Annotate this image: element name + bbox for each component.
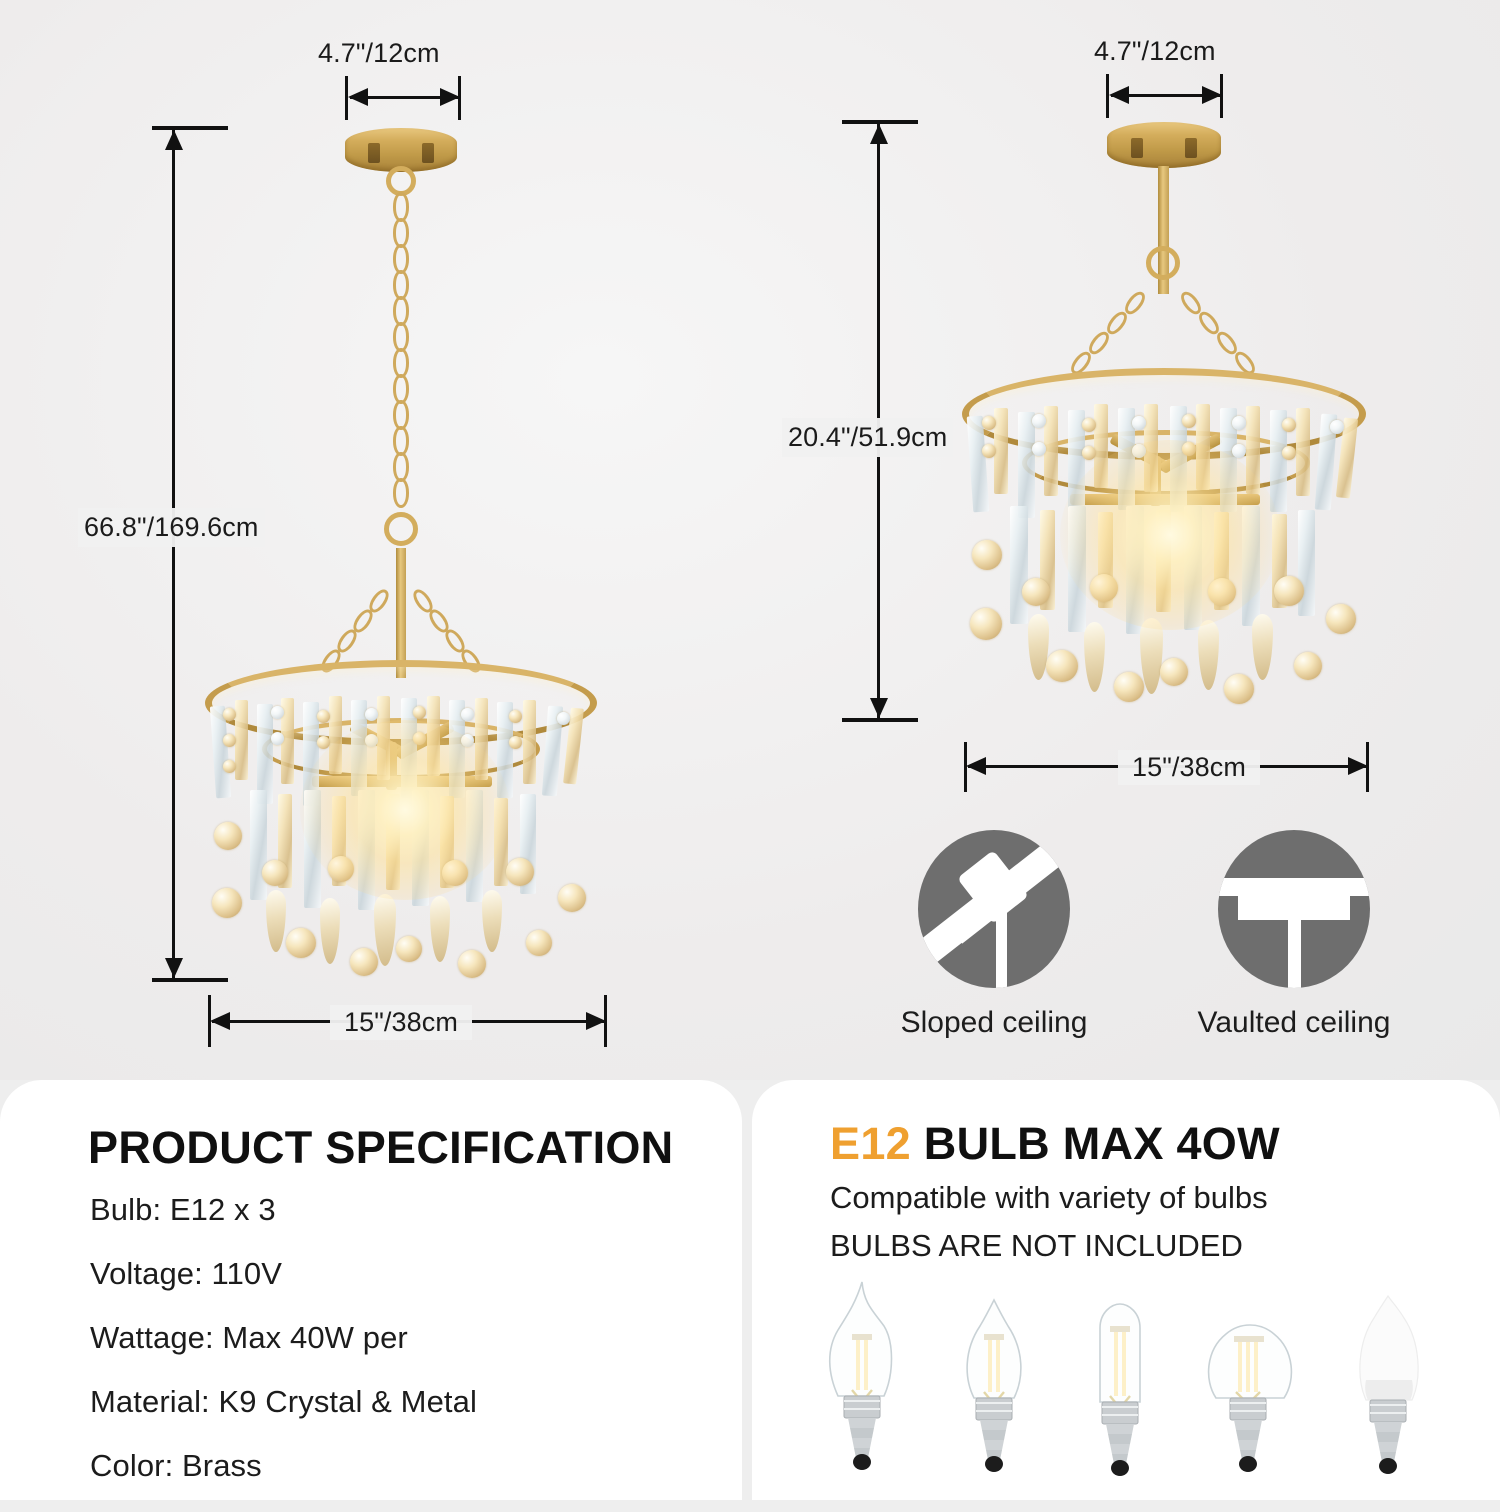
crystal-bead [317,736,330,749]
crystal-bead [365,708,378,721]
crystal-ball [1208,578,1236,606]
crystal-prism [967,416,990,513]
canopy-slot-right [1185,138,1197,158]
crystal-bead [1232,444,1246,458]
crystal-ball [1160,658,1188,686]
spec-line-material: Material: K9 Crystal & Metal [90,1384,477,1420]
crystal-bead [461,734,474,747]
crystal-ball [1326,604,1356,634]
crystal-bead [982,416,996,430]
crystal-ball [458,950,486,978]
chain-link [393,478,409,508]
crystal-bead [1032,414,1046,428]
crystal-bead [461,708,474,721]
crystal-bead [1032,442,1046,456]
crystal-bead [1132,416,1146,430]
crystal-bead [1182,442,1196,456]
sloped-ceiling-label: Sloped ceiling [864,1006,1124,1040]
crystal-prism [994,408,1008,494]
crystal-prism [427,696,440,776]
right-figure-panel: 4.7"/12cm 20.4"/51.9cm 15"/38cm [750,0,1500,1080]
bulb-title-highlight: E12 [830,1118,911,1169]
crystal-ball [1046,650,1078,682]
crystal-bead [271,706,284,719]
product-spec-infographic: 4.7"/12cm 66.8"/169.6cm 15"/38cm [0,0,1500,1500]
canopy-slot-left [368,143,380,163]
crystal-prism [329,696,342,774]
tubular-bulb-svg [1070,1298,1170,1490]
crystal-bead [1182,414,1196,428]
spec-line-voltage: Voltage: 110V [90,1256,477,1292]
crystal-bead [223,760,236,773]
hanger-loop [1146,246,1180,280]
ceiling-canopy [1107,122,1221,168]
canopy-slot-right [422,143,434,163]
crystal-ball [442,860,468,886]
spec-list: Bulb: E12 x 3 Voltage: 110V Wattage: Max… [90,1192,477,1512]
crystal-bead [365,734,378,747]
crystal-ball [1274,576,1304,606]
crystal-prism [1296,408,1310,496]
bulb-subtitle-compatible: Compatible with variety of bulbs [830,1180,1268,1216]
crystal-bead [413,732,426,745]
crystal-ball [286,928,316,958]
crystal-bead [1282,446,1296,460]
crystal-prism [377,696,390,780]
right-chandelier [750,0,1500,820]
crystal-ball-fringe [968,516,1360,716]
ceiling-option-sloped: Sloped ceiling [864,830,1124,1040]
flame-tip-bulb-svg [804,1278,924,1490]
flame-tip-filament-bulb [804,1278,924,1490]
crystal-bead [557,712,570,725]
crystal-bead [271,732,284,745]
crystal-ball [506,858,534,886]
product-specification-card: PRODUCT SPECIFICATION Bulb: E12 x 3 Volt… [0,1080,742,1500]
crystal-ball [526,930,552,956]
center-rod [396,548,406,678]
lower-hanger-loop [384,512,418,546]
crystal-ball [972,540,1002,570]
bulb-compatibility-card: E12 BULB MAX 4OW Compatible with variety… [752,1080,1500,1500]
crystal-bead [509,736,522,749]
crystal-prism [1044,406,1058,496]
crystal-bead [1082,446,1096,460]
ceiling-options-row: Sloped ceiling Vaulted ceiling [750,830,1500,1060]
crystal-ball [212,888,242,918]
crystal-ball [396,936,422,962]
crystal-ball [328,856,354,882]
crystal-ball [1090,574,1118,602]
bulb-illustrations-row [792,1275,1492,1490]
left-chandelier [0,0,750,1080]
spec-card-title: PRODUCT SPECIFICATION [88,1122,673,1174]
spec-line-wattage: Wattage: Max 40W per [90,1320,477,1356]
crystal-bead [1330,420,1344,434]
crystal-bead [1132,444,1146,458]
sloped-ceiling-icon [918,830,1070,988]
crystal-prism [257,704,273,804]
crystal-prism [1196,404,1210,490]
crystal-prism [235,700,248,780]
crystal-bead [223,734,236,747]
crystal-bead [1282,418,1296,432]
crystal-bead [509,710,522,723]
crystal-ball [970,608,1002,640]
crystal-prism [1246,406,1260,494]
crystal-ball [1224,674,1254,704]
left-figure-panel: 4.7"/12cm 66.8"/169.6cm 15"/38cm [0,0,750,1080]
globe-bulb-svg [1192,1306,1308,1490]
crystal-ball [350,948,378,976]
bulb-subtitle-not-included: BULBS ARE NOT INCLUDED [830,1228,1243,1264]
vaulted-ceiling-icon [1218,830,1370,988]
crystal-ball [1294,652,1322,680]
globe-g45-filament-bulb [1192,1306,1308,1490]
crystal-ball [558,884,586,912]
crystal-bead [1232,416,1246,430]
frosted-bulb-svg [1332,1294,1448,1490]
dimension-diagram-area: 4.7"/12cm 66.8"/169.6cm 15"/38cm [0,0,1500,1080]
torpedo-candle-filament-bulb [940,1294,1050,1490]
crystal-ball [1022,578,1050,606]
vaulted-ceiling-label: Vaulted ceiling [1164,1006,1424,1040]
sloped-fixture-stem [996,902,1007,988]
bulb-card-title: E12 BULB MAX 4OW [830,1118,1280,1170]
crystal-prism [1018,412,1035,518]
spec-line-color: Color: Brass [90,1448,477,1484]
bottom-cards: PRODUCT SPECIFICATION Bulb: E12 x 3 Volt… [0,1080,1500,1500]
crystal-bead [223,708,236,721]
suspension-chain [391,192,411,522]
crystal-bead [413,706,426,719]
crystal-ball [1114,672,1144,702]
spec-line-bulb: Bulb: E12 x 3 [90,1192,477,1228]
crystal-ball [214,822,242,850]
ceiling-option-vaulted: Vaulted ceiling [1164,830,1424,1040]
bulb-title-rest: BULB MAX 4OW [924,1118,1280,1169]
canopy-slot-left [1131,138,1143,158]
crystal-prism [523,700,536,784]
crystal-prism [1094,404,1108,488]
crystal-bead [982,444,996,458]
crystal-bead [1082,418,1096,432]
tubular-t-filament-bulb [1070,1298,1170,1490]
torpedo-bulb-svg [940,1294,1050,1490]
crystal-ball-fringe [210,800,590,990]
crystal-prism [475,698,488,780]
crystal-prism [1144,404,1158,492]
vaulted-fixture-stem [1288,890,1301,988]
crystal-ball [262,860,288,886]
frosted-candle-led-bulb [1332,1294,1448,1490]
crystal-bead [317,710,330,723]
